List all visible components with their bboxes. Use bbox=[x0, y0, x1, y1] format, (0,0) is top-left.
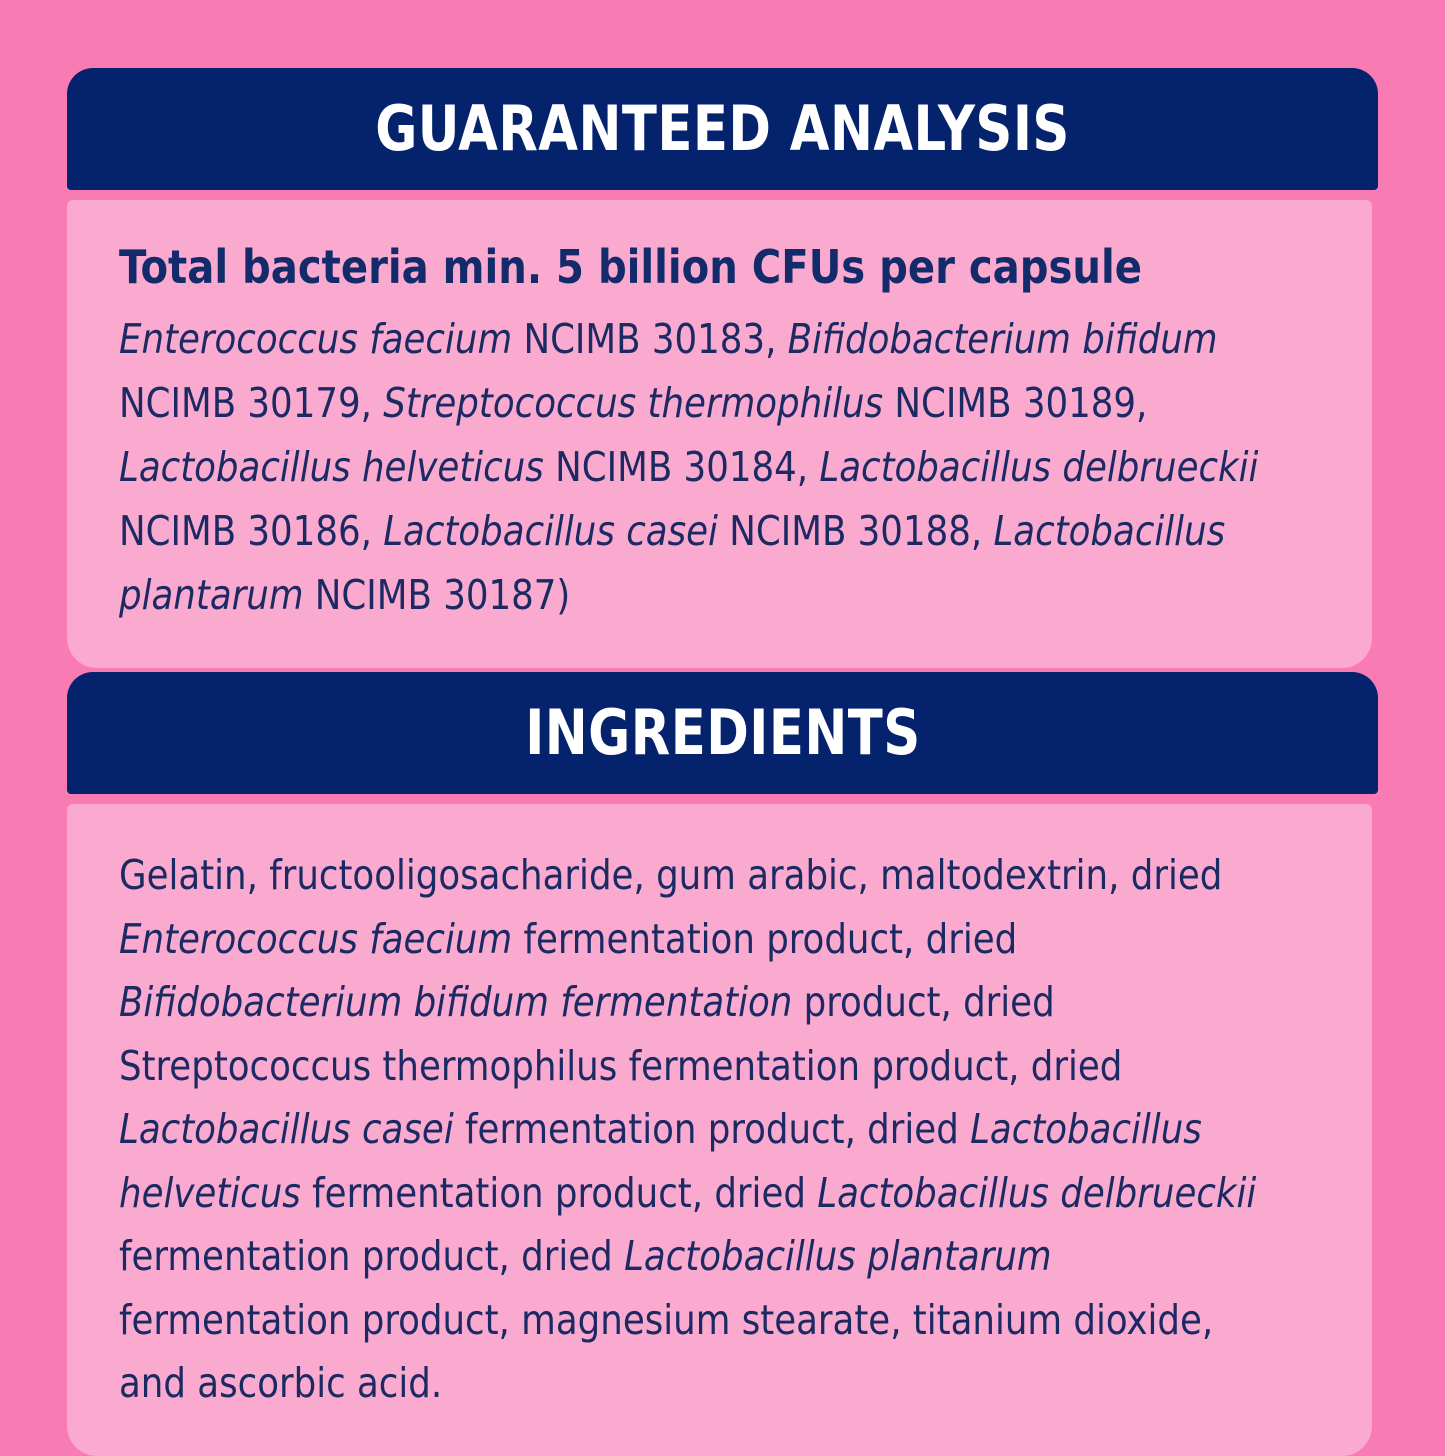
species-name: Lactobacillus delbrueckii bbox=[819, 443, 1258, 491]
species-name: Lactobacillus plantarum bbox=[624, 1232, 1051, 1280]
body-text-run: fermentation product, dried bbox=[512, 915, 1017, 963]
guaranteed-analysis-body-panel: Total bacteria min. 5 billion CFUs per c… bbox=[67, 200, 1372, 668]
guaranteed-analysis-section: GUARANTEED ANALYSIS Total bacteria min. … bbox=[67, 68, 1378, 668]
guaranteed-analysis-strain-list: Enterococcus faecium NCIMB 30183, Bifido… bbox=[119, 308, 1278, 628]
species-name: Lactobacillus delbrueckii bbox=[817, 1169, 1256, 1217]
body-text-run: NCIMB 30184, bbox=[544, 443, 820, 491]
supplement-label-page: GUARANTEED ANALYSIS Total bacteria min. … bbox=[0, 0, 1445, 1445]
species-name: Bifidobacterium bifidum fermentation bbox=[119, 978, 792, 1026]
body-text-run: NCIMB 30179, bbox=[119, 379, 383, 427]
total-bacteria-heading: Total bacteria min. 5 billion CFUs per c… bbox=[119, 240, 1284, 294]
species-name: Lactobacillus casei bbox=[383, 507, 718, 555]
body-text-run: fermentation product, dried bbox=[454, 1105, 970, 1153]
ingredients-title: INGREDIENTS bbox=[525, 702, 920, 764]
ingredients-section: INGREDIENTS Gelatin, fructooligosacharid… bbox=[67, 672, 1378, 1456]
species-name: Streptococcus thermophilus bbox=[383, 379, 883, 427]
species-name: Lactobacillus casei bbox=[119, 1105, 454, 1153]
ingredients-list: Gelatin, fructooligosacharide, gum arabi… bbox=[119, 844, 1278, 1416]
body-text-run: NCIMB 30183, bbox=[512, 315, 788, 363]
species-name: Bifidobacterium bifidum bbox=[788, 315, 1218, 363]
guaranteed-analysis-title: GUARANTEED ANALYSIS bbox=[375, 98, 1070, 160]
body-text-run: NCIMB 30187) bbox=[303, 571, 570, 619]
body-text-run: NCIMB 30186, bbox=[119, 507, 383, 555]
ingredients-header-bar: INGREDIENTS bbox=[67, 672, 1378, 794]
species-name: Lactobacillus helveticus bbox=[119, 443, 544, 491]
species-name: Enterococcus faecium bbox=[119, 315, 512, 363]
ingredients-body-panel: Gelatin, fructooligosacharide, gum arabi… bbox=[67, 804, 1372, 1456]
guaranteed-analysis-header-bar: GUARANTEED ANALYSIS bbox=[67, 68, 1378, 190]
body-text-run: NCIMB 30188, bbox=[718, 507, 994, 555]
body-text-run: fermentation product, magnesium stearate… bbox=[119, 1296, 1213, 1408]
body-text-run: NCIMB 30189, bbox=[883, 379, 1147, 427]
body-text-run: fermentation product, dried bbox=[119, 1232, 624, 1280]
body-text-run: Gelatin, fructooligosacharide, gum arabi… bbox=[119, 851, 1222, 899]
species-name: Enterococcus faecium bbox=[119, 915, 512, 963]
body-text-run: fermentation product, dried bbox=[301, 1169, 817, 1217]
